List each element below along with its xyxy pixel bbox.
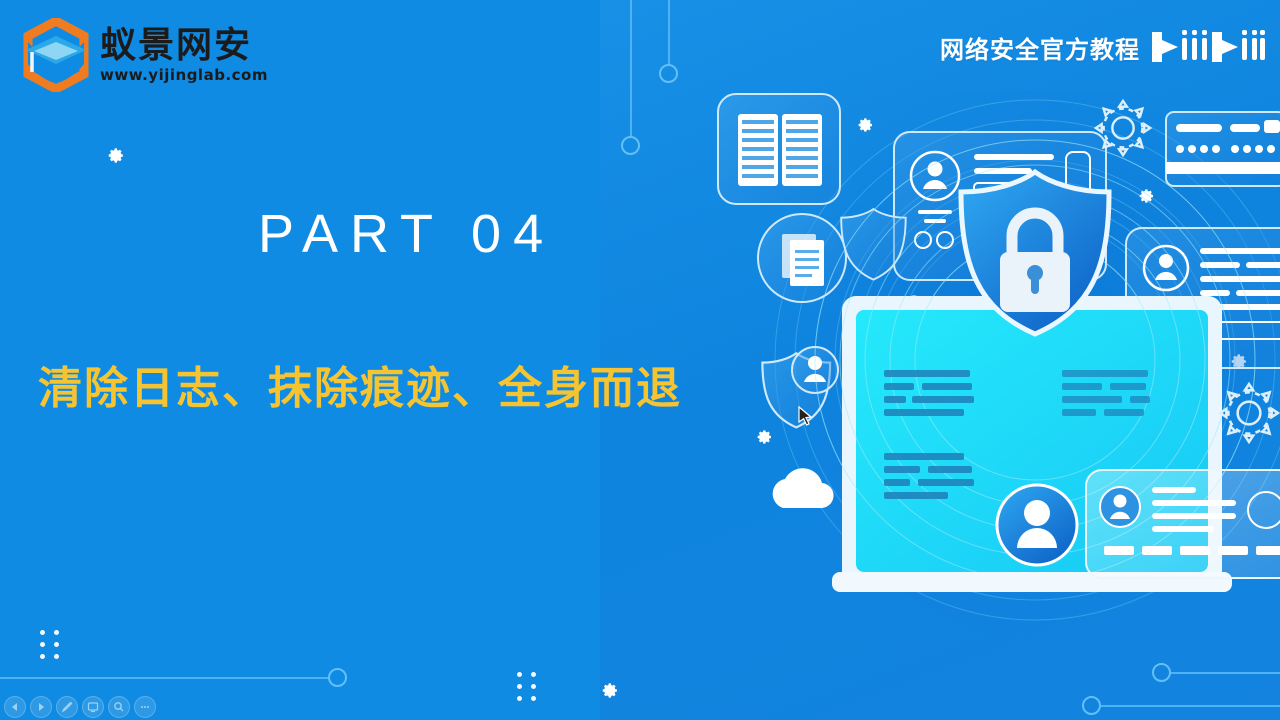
deco-ring-4 xyxy=(1152,663,1171,682)
shield-lock-icon xyxy=(841,209,925,327)
slide-subtitle: 清除日志、抹除痕迹、全身而退 xyxy=(38,352,682,416)
background-glow xyxy=(820,90,1280,650)
shield-cloud-icon xyxy=(762,353,833,508)
cyber-security-illustration xyxy=(690,70,1280,640)
triangle-left-icon xyxy=(10,702,20,712)
deco-ring-2 xyxy=(621,136,640,155)
logo-website: www.yijinglab.com xyxy=(100,68,268,83)
credit-card-icon xyxy=(1166,112,1280,186)
slide-canvas: 蚁景网安 www.yijinglab.com 网络安全官方教程 xyxy=(0,0,1280,720)
presentation-view-button[interactable] xyxy=(82,696,104,718)
zoom-button[interactable] xyxy=(108,696,130,718)
deco-dot-grid-2 xyxy=(517,672,537,701)
deco-vertical-line-1 xyxy=(668,0,670,66)
deco-ring-3 xyxy=(328,668,347,687)
background-wash xyxy=(600,0,1280,720)
ellipsis-icon xyxy=(139,701,151,713)
screen-icon xyxy=(87,701,99,713)
gear-icon xyxy=(1092,97,1154,159)
gear-icon xyxy=(858,117,874,133)
next-slide-button[interactable] xyxy=(30,696,52,718)
magnifier-icon xyxy=(113,701,125,713)
user-card-icon xyxy=(1126,228,1280,368)
tutorial-label: 网络安全官方教程 xyxy=(940,26,1266,68)
user-icon xyxy=(792,347,838,393)
gear-icon xyxy=(1139,188,1155,204)
deco-horizontal-line-3 xyxy=(1100,705,1280,707)
mouse-pointer xyxy=(798,406,814,428)
graduation-cap-hexagon-logo-icon xyxy=(22,18,90,92)
user-card-icon xyxy=(894,132,1106,280)
gear-icon xyxy=(602,682,619,699)
gear-icon xyxy=(757,429,773,445)
triangle-right-icon xyxy=(36,702,46,712)
deco-vertical-line-2 xyxy=(630,0,632,138)
deco-horizontal-line-1 xyxy=(0,677,330,679)
deco-dot-grid-1 xyxy=(40,630,60,659)
document-circle-icon xyxy=(758,214,846,302)
laptop-icon xyxy=(815,140,1255,592)
gear-icon xyxy=(1231,353,1248,370)
previous-slide-button[interactable] xyxy=(4,696,26,718)
pen-annotate-button[interactable] xyxy=(56,696,78,718)
more-options-button[interactable] xyxy=(134,696,156,718)
logo-name: 蚁景网安 xyxy=(100,28,268,64)
user-card-icon xyxy=(1086,470,1280,578)
user-icon xyxy=(997,485,1077,565)
book-icon-card xyxy=(718,94,840,204)
pen-icon xyxy=(61,701,73,713)
deco-ring-5 xyxy=(1082,696,1101,715)
tutorial-label-text: 网络安全官方教程 xyxy=(940,30,1140,65)
part-number-title: PART 04 xyxy=(258,203,555,265)
gear-icon xyxy=(108,147,125,164)
deco-horizontal-line-2 xyxy=(1170,672,1280,674)
gear-icon xyxy=(1216,380,1280,446)
shield-lock-icon xyxy=(961,172,1109,334)
presentation-toolbar[interactable] xyxy=(0,694,160,720)
brand-logo: 蚁景网安 www.yijinglab.com xyxy=(22,18,268,92)
bilibili-logo-icon xyxy=(1148,26,1266,68)
deco-ring-1 xyxy=(659,64,678,83)
